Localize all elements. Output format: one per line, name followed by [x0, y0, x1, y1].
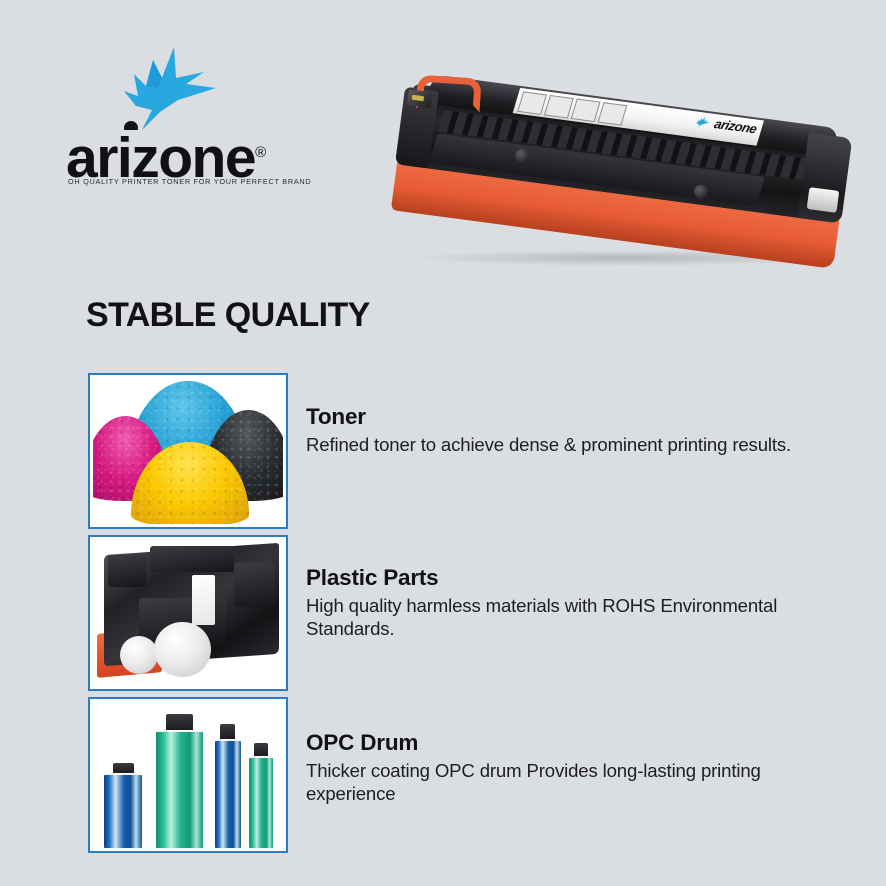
opc-drum-2 [156, 714, 204, 848]
cartridge-graphic: arizone [388, 67, 854, 275]
feature-image-frame [88, 535, 288, 691]
feature-description: Thicker coating OPC drum Provides long-l… [306, 759, 846, 805]
part-block-a [108, 555, 146, 587]
drum-tube [249, 758, 274, 848]
cartridge-chip [407, 89, 433, 108]
feature-title: OPC Drum [306, 731, 846, 756]
part-block-d [234, 563, 276, 607]
label-bird-icon [693, 115, 714, 130]
part-block-b [150, 546, 234, 572]
feature-text: Toner Refined toner to achieve dense & p… [306, 405, 846, 456]
toner-cartridge-image: arizone [378, 74, 868, 294]
label-icon-4 [597, 102, 627, 126]
opc-drum-photo [93, 702, 283, 848]
feature-title: Toner [306, 405, 846, 430]
opc-drum-4 [249, 743, 274, 848]
feature-description: High quality harmless materials with ROH… [306, 594, 846, 640]
feature-description: Refined toner to achieve dense & promine… [306, 433, 846, 456]
opc-drum-3 [215, 724, 242, 848]
feature-text: Plastic Parts High quality harmless mate… [306, 566, 846, 640]
label-brand-name: arizone [713, 117, 758, 135]
label-icon-1 [517, 91, 547, 115]
bird-icon [112, 44, 232, 130]
feature-image-frame [88, 697, 288, 853]
label-icon-3 [571, 99, 601, 123]
drum-tube [104, 775, 142, 848]
label-brand-logo: arizone [693, 115, 758, 136]
feature-text: OPC Drum Thicker coating OPC drum Provid… [306, 731, 846, 805]
brand-tagline: OH QUALITY PRINTER TONER FOR YOUR PERFEC… [68, 177, 274, 186]
part-white-fin [192, 575, 215, 625]
cartridge-roller [807, 187, 840, 213]
part-gear-large [154, 622, 211, 677]
feature-title: Plastic Parts [306, 566, 846, 591]
drum-tube [215, 741, 242, 848]
cmyk-toner-powder-photo [93, 378, 283, 524]
opc-drum-1 [104, 763, 142, 848]
plastic-parts-photo [93, 540, 283, 686]
drum-tube [156, 732, 204, 848]
label-icon-2 [544, 95, 574, 119]
section-title: STABLE QUALITY [86, 296, 370, 335]
infographic-page: arizone® OH QUALITY PRINTER TONER FOR YO… [0, 0, 886, 886]
feature-image-frame [88, 373, 288, 529]
brand-logo: arizone® OH QUALITY PRINTER TONER FOR YO… [66, 44, 276, 196]
registered-mark: ® [255, 144, 266, 161]
part-gear-small [120, 636, 158, 674]
